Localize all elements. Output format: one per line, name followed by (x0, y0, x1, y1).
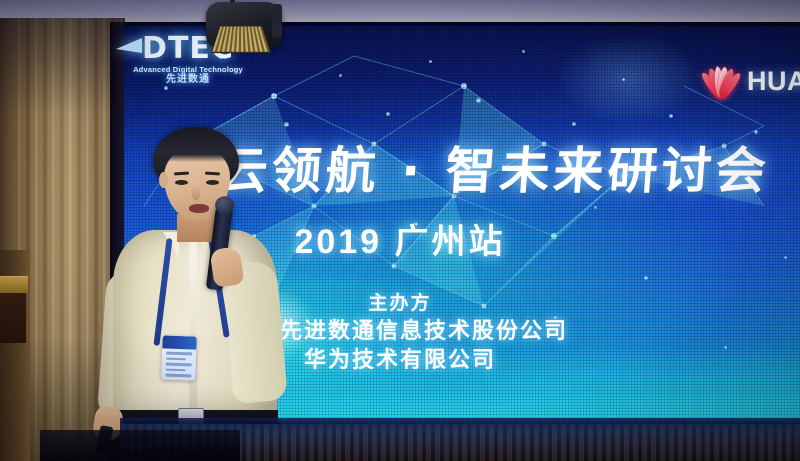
speaker-ear (159, 172, 168, 188)
speaker-eye-left (175, 180, 188, 185)
stage-floor-shadow (40, 430, 240, 461)
screenshot-root: DTEC Advanced Digital Technology 先进数通 HU… (0, 0, 800, 461)
adtec-arrow-icon (116, 38, 142, 53)
speaker-shirt-placket (189, 242, 197, 410)
speaker-eye-right (206, 180, 219, 185)
spotlight-arm (272, 4, 282, 38)
speaker-mouth (189, 204, 209, 213)
lanyard-badge (161, 335, 197, 380)
microphone-head (214, 195, 235, 215)
huawei-logo: HUA (700, 64, 800, 98)
speaker-nose (192, 186, 200, 200)
stage-spotlight (196, 0, 288, 54)
huawei-flower-icon (700, 64, 742, 98)
speaker-person (50, 120, 280, 461)
adtec-tagline: Advanced Digital Technology (118, 66, 258, 74)
event-title: 云领航 · 智未来研讨会 (215, 131, 800, 203)
huawei-wordmark: HUA (747, 66, 800, 97)
adtec-chinese-name: 先进数通 (118, 75, 258, 85)
spotlight-lens (211, 26, 272, 53)
